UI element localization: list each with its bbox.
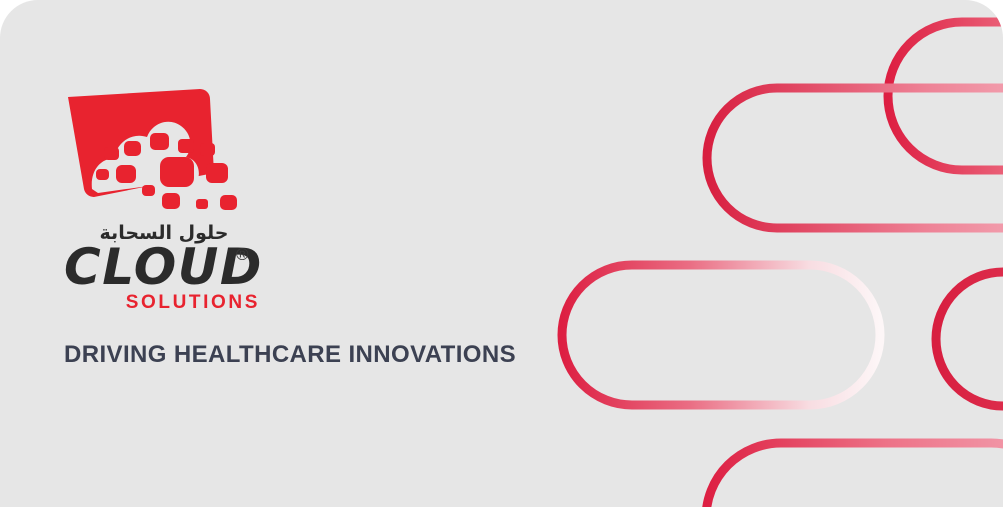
- registered-trademark-icon: ®: [236, 246, 249, 263]
- pill-bottom: [706, 443, 1003, 507]
- pill-upper-left: [707, 88, 1003, 228]
- tagline-heading: DRIVING HEALTHCARE INNOVATIONS: [64, 341, 516, 369]
- brand-name: CLOUD: [64, 244, 263, 290]
- brand-wordmark: حلول السحابة CLOUD ® SOLUTIONS: [64, 224, 264, 312]
- pill-middle: [562, 265, 880, 405]
- pill-top-right: [888, 22, 1003, 170]
- cloud-pixel-rain-logo-icon: [64, 85, 254, 220]
- pill-right-partial: [936, 272, 1003, 406]
- brand-logo-block: حلول السحابة CLOUD ® SOLUTIONS: [64, 85, 294, 312]
- brand-name-row: CLOUD ®: [64, 244, 264, 290]
- brand-card: حلول السحابة CLOUD ® SOLUTIONS DRIVING H…: [0, 0, 1003, 507]
